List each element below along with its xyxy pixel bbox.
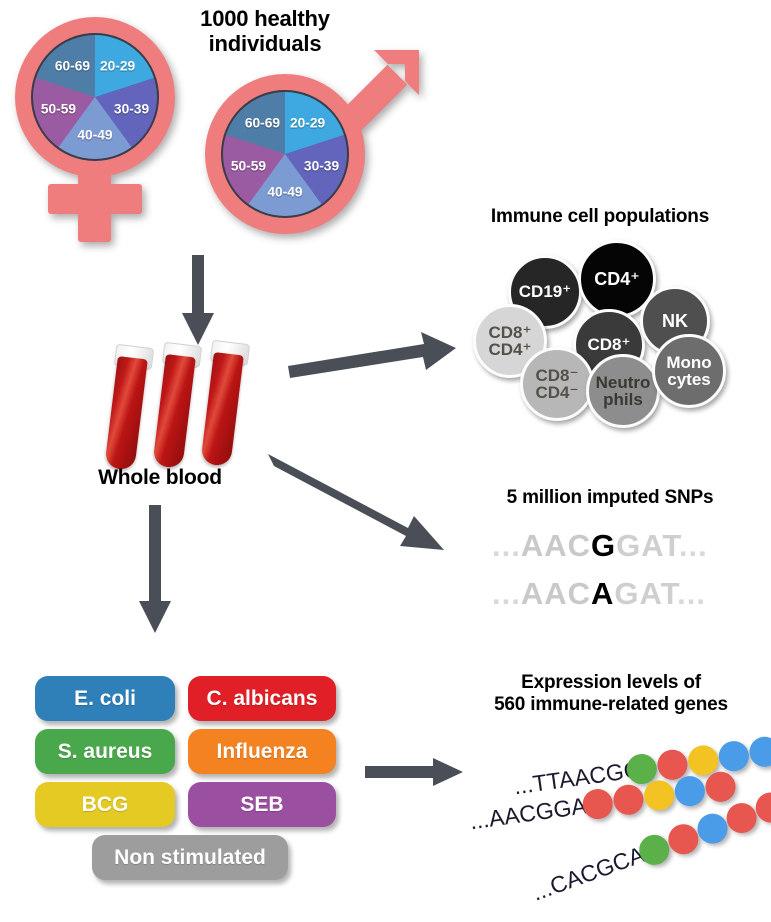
section-title-expression: Expression levels of 560 immune-related …: [455, 672, 767, 716]
rna-bead: [673, 774, 707, 808]
rna-bead: [635, 831, 673, 869]
rna-bead: [717, 739, 751, 773]
arrow-blood-to-stimuli: [135, 505, 175, 635]
rna-bead: [625, 752, 659, 786]
pie-slice-label-40-49: 40-49: [267, 185, 302, 200]
rna-bead: [686, 743, 720, 777]
rna-bead: [748, 735, 771, 769]
rna-sequence-text: ...AACGGAT: [468, 791, 600, 836]
stimulus-seb[interactable]: SEB: [188, 782, 336, 827]
immune-cell-cd8[interactable]: CD8⁺: [573, 309, 645, 381]
snp-ellipsis-left: ...: [492, 528, 521, 563]
pie-slice-label-60-69: 60-69: [55, 58, 90, 73]
stimulus-e-coli[interactable]: E. coli: [35, 676, 175, 721]
rna-strand: ...AACGGAT: [468, 763, 770, 838]
stimulus-c-albicans[interactable]: C. albicans: [188, 676, 336, 721]
rna-sequence-text: ...TTAACGG: [512, 756, 643, 801]
immune-cell-cd19[interactable]: CD19⁺: [508, 255, 582, 329]
arrow-stimuli-to-expression: [365, 755, 465, 789]
rna-bead: [664, 820, 702, 858]
pie-slice-label-30-39: 30-39: [114, 101, 149, 116]
stimulus-s-aureus[interactable]: S. aureus: [35, 729, 175, 774]
immune-cell-nk[interactable]: NK: [640, 286, 710, 356]
female-age-pie: 20-2930-3940-4950-5960-69: [15, 17, 175, 177]
whole-blood-tubes: [110, 348, 280, 468]
male-age-pie: 20-2930-3940-4950-5960-69: [205, 74, 365, 234]
pie-slice-label-40-49: 40-49: [77, 128, 112, 143]
section-title-snps: 5 million imputed SNPs: [455, 487, 765, 509]
rna-bead: [752, 788, 771, 826]
arrow-cohort-to-blood: [178, 255, 218, 347]
arrow-blood-to-immune: [288, 330, 458, 380]
snp-ellipsis-left: ...: [492, 576, 521, 611]
tube-blood: [152, 354, 195, 469]
rna-bead: [704, 770, 738, 804]
diagram-canvas: 1000 healthy individuals 20-2930-3940-49…: [0, 0, 771, 922]
immune-cell-cd4[interactable]: CD4⁺: [578, 240, 656, 318]
snp-variant-allele: G: [591, 528, 616, 563]
snp-flank-left: AAC: [521, 576, 591, 611]
rna-bead: [642, 778, 676, 812]
pie-slice-label-50-59: 50-59: [231, 158, 266, 173]
snp-flank-left: AAC: [521, 528, 591, 563]
snp-sequence-block: ...AACGGAT......AACAGAT...: [492, 528, 762, 618]
section-title-immune-cells: Immune cell populations: [435, 206, 765, 228]
snp-variant-allele: A: [591, 576, 614, 611]
tube-blood: [104, 356, 147, 471]
tube-blood: [200, 352, 243, 467]
label-whole-blood: Whole blood: [55, 466, 265, 490]
immune-cell-monocytes[interactable]: Mono cytes: [652, 334, 726, 408]
pie-slice-label-30-39: 30-39: [304, 158, 339, 173]
female-venus-symbol: 20-2930-3940-4950-5960-69: [10, 12, 190, 242]
rna-bead: [656, 748, 690, 782]
rna-bead: [722, 799, 760, 837]
rna-strand: ...TTAACGG: [512, 728, 771, 803]
immune-cell-neutrophils[interactable]: Neutro phils: [586, 354, 660, 428]
pie-slice-label-20-29: 20-29: [290, 115, 325, 130]
rna-strand: ...CACGCAA: [527, 775, 771, 910]
pie-slice-label-60-69: 60-69: [245, 115, 280, 130]
snp-ellipsis-right: ...: [679, 528, 708, 563]
stimulus-bcg[interactable]: BCG: [35, 782, 175, 827]
stimulus-influenza[interactable]: Influenza: [188, 729, 336, 774]
rna-sequence-text: ...CACGCAA: [528, 836, 662, 907]
snp-sequence-row: ...AACAGAT...: [492, 576, 706, 612]
arrow-blood-to-snps: [268, 450, 448, 555]
immune-cell-cd8-cd4[interactable]: CD8⁺ CD4⁺: [473, 304, 547, 378]
rna-bead: [612, 783, 646, 817]
male-mars-symbol: 20-2930-3940-4950-5960-69: [200, 52, 420, 252]
rna-bead: [581, 787, 615, 821]
snp-sequence-row: ...AACGGAT...: [492, 528, 708, 564]
stimulus-non-stimulated[interactable]: Non stimulated: [92, 835, 288, 880]
snp-flank-right: GAT: [614, 576, 677, 611]
immune-cell-cd8-cd4[interactable]: CD8⁻ CD4⁻: [520, 347, 594, 421]
pie-slice-label-50-59: 50-59: [41, 101, 76, 116]
snp-ellipsis-right: ...: [677, 576, 706, 611]
snp-flank-right: GAT: [616, 528, 679, 563]
rna-bead: [693, 809, 731, 847]
pie-slice-label-20-29: 20-29: [100, 58, 135, 73]
female-stem-cross: [48, 184, 142, 214]
